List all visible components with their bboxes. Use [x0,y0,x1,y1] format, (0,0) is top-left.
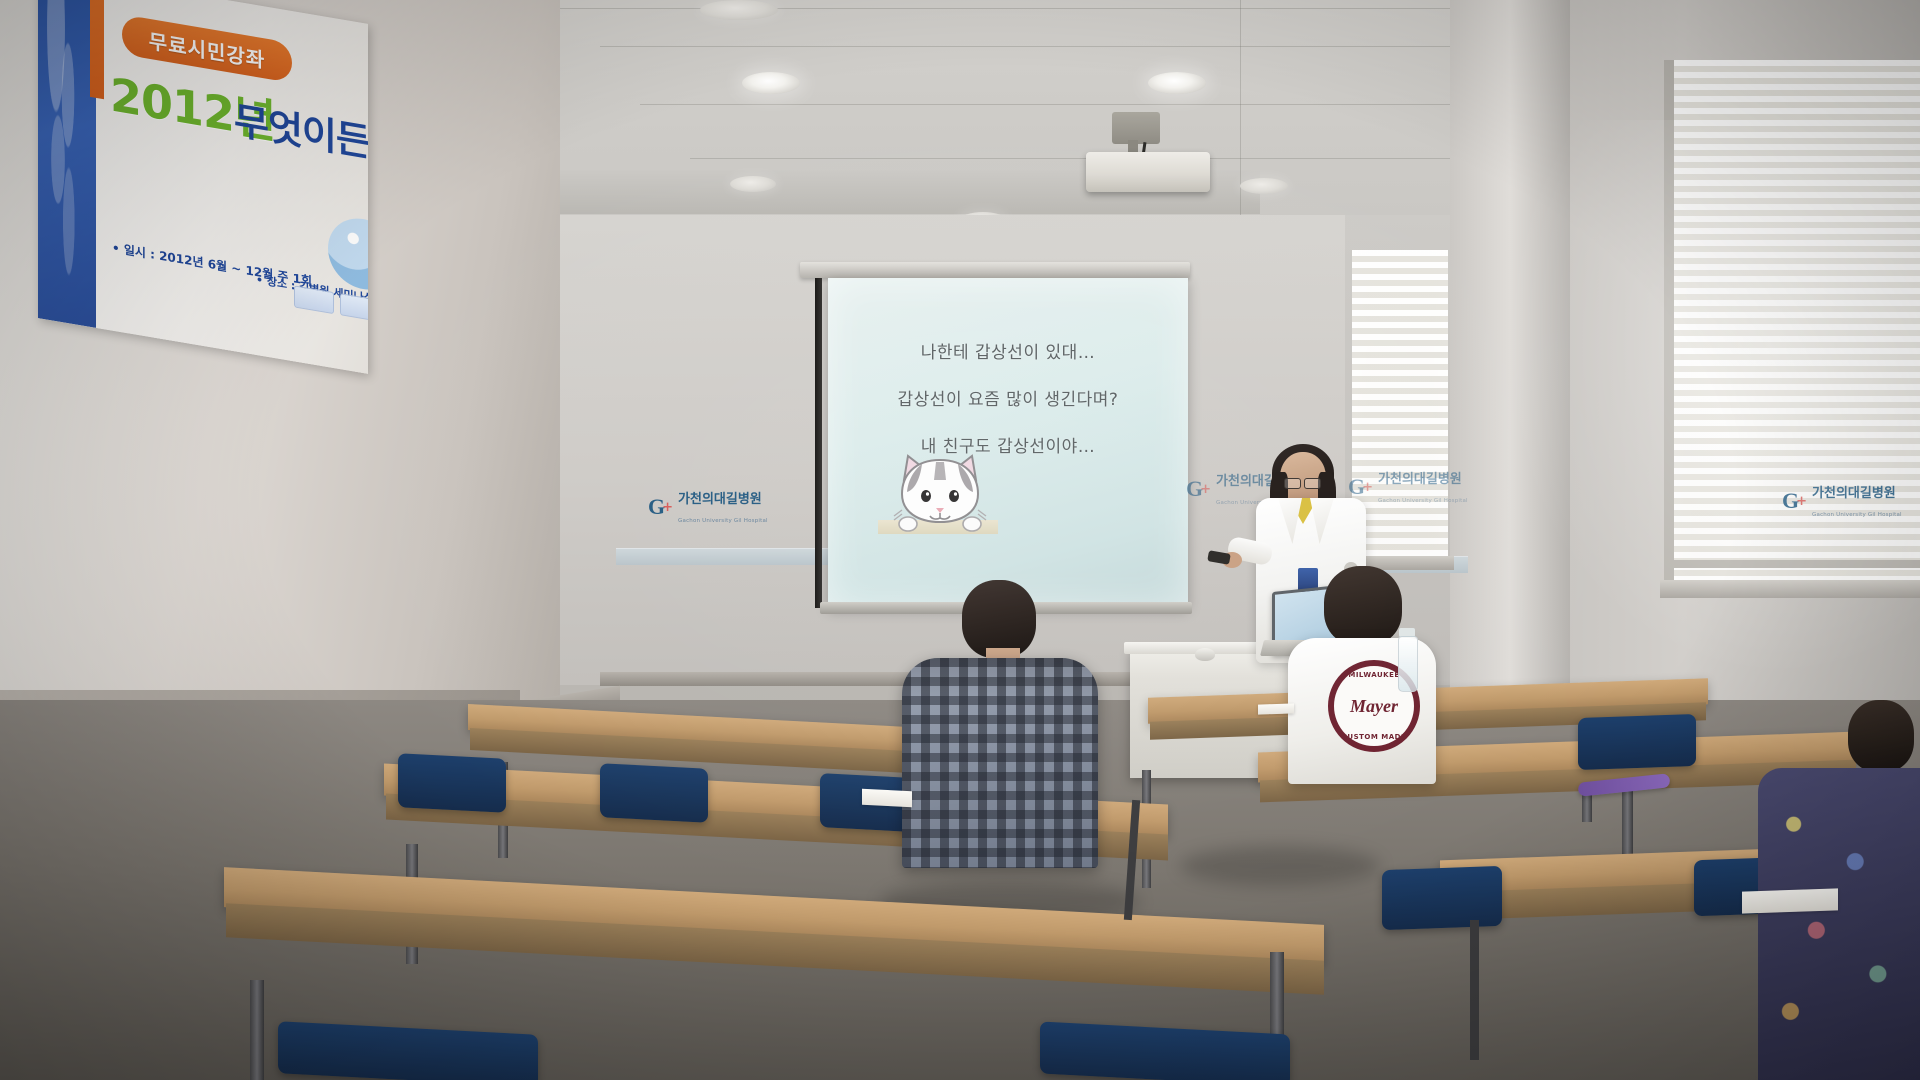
logo-english-name: Gachon University Gil Hospital [1378,498,1468,504]
event-banner: 무료시민강좌 2012년 무엇이든 물어보세요 • 일시 : 2012년 6월 … [38,0,368,374]
seminar-room-photo: 무료시민강좌 2012년 무엇이든 물어보세요 • 일시 : 2012년 6월 … [0,0,1920,1080]
logo-plus-mark: + [1200,482,1211,497]
floor-shadow [1180,846,1380,886]
jacket-logo-bottom-text: CUSTOM MADE [1334,733,1414,741]
jacket-logo-middle-text: Mayer [1350,696,1398,717]
chair-frame [1470,920,1479,1060]
logo-plus-mark: + [662,500,673,515]
chair [398,753,506,813]
logo-korean-name: 가천의대길병원 [1378,472,1462,487]
handout-paper [1742,888,1838,913]
ceiling-downlight [1240,178,1288,194]
ceiling-downlight [700,0,778,20]
window-frame [1672,560,1920,568]
window-blind [1352,250,1448,560]
chair [1382,866,1502,930]
attendee-far-right-patterned-top [1758,768,1920,1080]
window-right-near [1352,250,1448,560]
slide-line-1: 나한테 갑상선이 있대… [828,338,1188,363]
banner-orange-rail [90,0,104,99]
slide-line-2: 갑상선이 요즘 많이 생긴다며? [828,385,1188,410]
window-sill [1660,580,1920,598]
logo-english-name: Gachon University Gil Hospital [1812,512,1902,518]
banner-badge-label: 무료시민강좌 [149,24,265,73]
sponsor-logo [294,285,334,314]
hospital-logo-pillar: G + 가천의대길병원 Gachon University Gil Hospit… [1348,468,1468,506]
logo-plus-mark: + [1796,494,1807,509]
ceiling-downlight [1148,72,1206,94]
screen-housing [800,262,1190,278]
attendee-front-shoulder-shading [902,658,1098,698]
cat-illustration-icon [892,450,988,534]
logo-korean-name: 가천의대길병원 [678,492,762,507]
chair [1578,714,1696,770]
sponsor-logo [340,293,368,322]
hospital-logo-right-wall: G + 가천의대길병원 Gachon University Gil Hospit… [1782,482,1902,520]
screen-side-rail [815,278,822,608]
logo-plus-mark: + [1362,480,1373,495]
chair [600,763,708,823]
logo-english-name: Gachon University Gil Hospital [678,518,768,524]
computer-mouse-icon [1195,648,1215,661]
ceiling-projector [1086,152,1210,192]
attendee-front-head [962,580,1036,658]
ceiling-downlight [742,72,800,94]
logo-korean-name: 가천의대길병원 [1812,486,1896,501]
banner-title: 무엇이든 물어보세요 [234,89,368,198]
banner-globe-graphic [328,213,368,295]
presenter-glasses [1284,478,1322,487]
projection-screen: 나한테 갑상선이 있대… 갑상선이 요즘 많이 생긴다며? 내 친구도 갑상선이… [828,278,1188,608]
handout-paper [1258,703,1294,714]
wall-pillar [1450,0,1570,720]
handout-paper [862,789,912,808]
slide-line-3: 내 친구도 갑상선이야… [828,432,1188,457]
slide-text-block: 나한테 갑상선이 있대… 갑상선이 요즘 많이 생긴다며? 내 친구도 갑상선이… [828,338,1188,479]
table-leg [250,980,264,1080]
banner-left-graphic [38,0,96,328]
water-bottle [1398,636,1418,692]
window-frame [1664,60,1674,580]
ceiling-downlight [730,176,776,192]
hospital-logo-back-wall: G + 가천의대길병원 Gachon University Gil Hospit… [648,488,768,526]
attendee-far-right-head [1848,700,1914,772]
attendee-right-head [1324,566,1402,646]
